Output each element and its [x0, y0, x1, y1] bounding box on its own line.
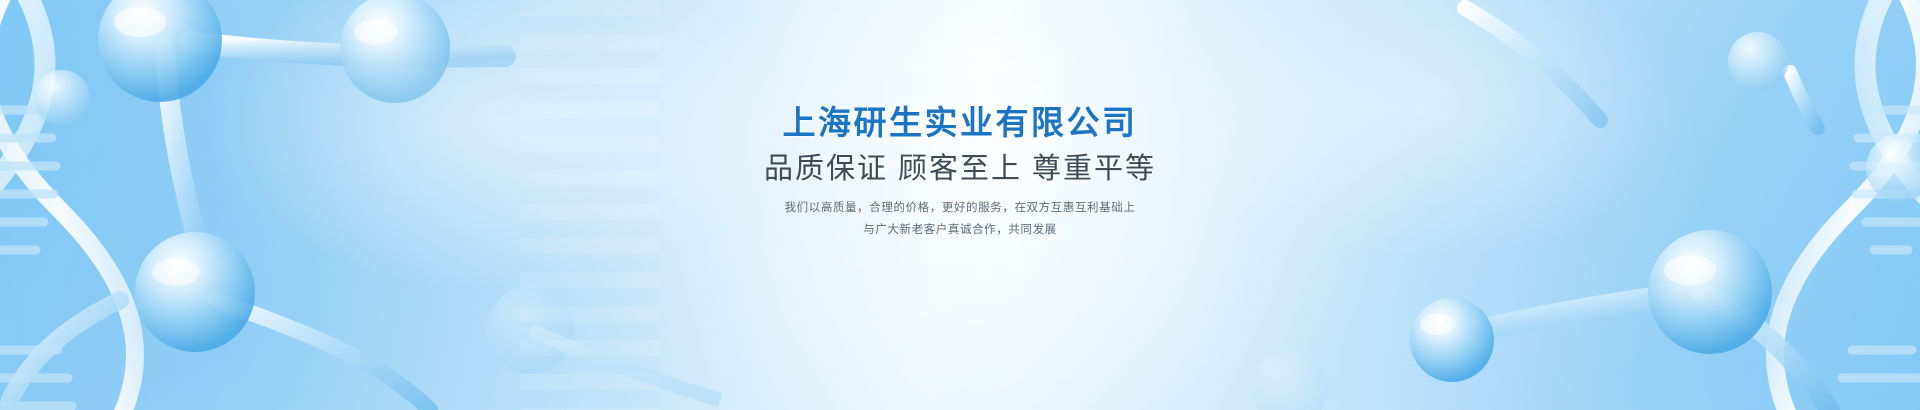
company-slogan: 品质保证 顾客至上 尊重平等	[0, 152, 1920, 187]
description-line-2: 与广大新老客户真诚合作，共同发展	[0, 219, 1920, 241]
background-color-wash	[0, 0, 1920, 410]
banner-copy: 上海研生实业有限公司 品质保证 顾客至上 尊重平等 我们以高质量，合理的价格，更…	[0, 104, 1920, 242]
background-texture-strip	[520, 0, 660, 410]
molecule-spheres-icon	[0, 0, 1920, 410]
company-description: 我们以高质量，合理的价格，更好的服务，在双方互惠互利基础上 与广大新老客户真诚合…	[0, 197, 1920, 242]
company-title: 上海研生实业有限公司	[0, 104, 1920, 143]
dna-helix-left-icon	[0, 0, 240, 410]
dna-helix-right-icon	[1670, 0, 1920, 410]
background-highlight-wash	[0, 0, 1920, 410]
description-line-1: 我们以高质量，合理的价格，更好的服务，在双方互惠互利基础上	[0, 197, 1920, 219]
hero-banner: 上海研生实业有限公司 品质保证 顾客至上 尊重平等 我们以高质量，合理的价格，更…	[0, 0, 1920, 410]
